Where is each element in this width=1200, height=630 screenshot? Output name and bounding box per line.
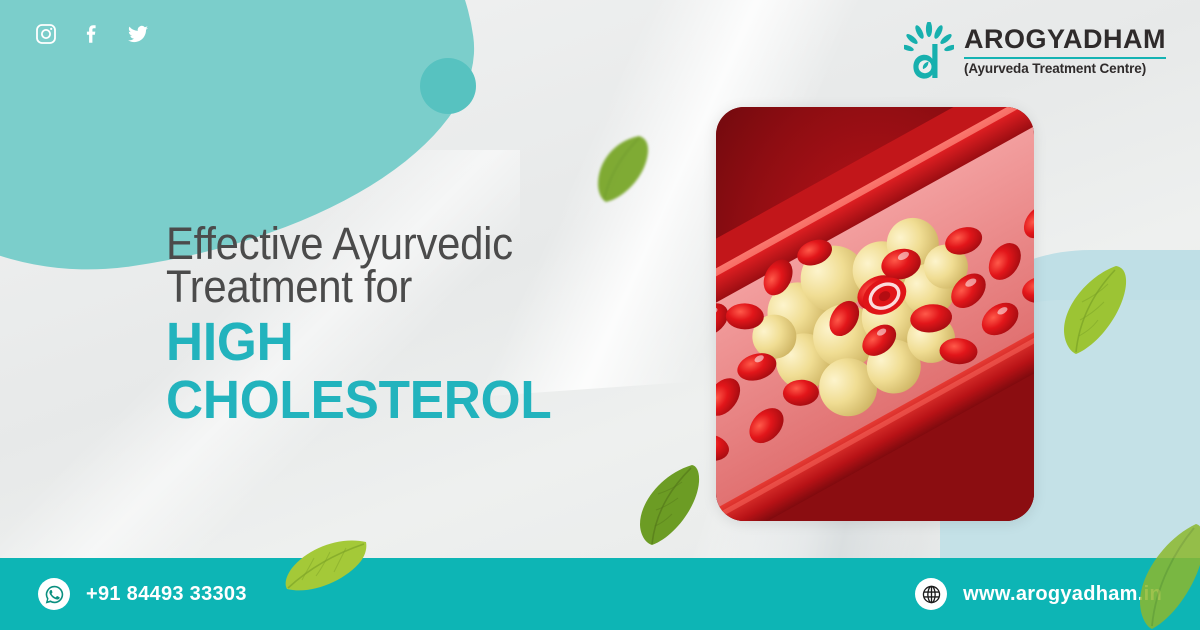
headline-emphasis: HIGH CHOLESTEROL [166,314,660,428]
logo-divider [964,57,1166,59]
whatsapp-icon [38,578,70,610]
globe-icon [915,578,947,610]
facebook-icon[interactable] [80,22,104,46]
logo-wordmark: AROGYADHAM [964,26,1166,53]
website-contact[interactable]: www.arogyadham.in [915,578,1162,610]
twitter-icon[interactable] [126,22,150,46]
website-url: www.arogyadham.in [963,583,1162,606]
brand-logo[interactable]: AROGYADHAM (Ayurveda Treatment Centre) [904,22,1166,80]
contact-bar: +91 84493 33303 www.arogyadham.in [0,558,1200,630]
leaf-tree-a-icon [904,22,954,80]
promo-banner: AROGYADHAM (Ayurveda Treatment Centre) E… [0,0,1200,630]
headline-line-1: Effective Ayurvedic [166,222,650,265]
phone-number: +91 84493 33303 [86,583,247,606]
leaf-icon [632,462,704,548]
social-links [34,22,150,46]
logo-tagline: (Ayurveda Treatment Centre) [964,62,1166,77]
phone-contact[interactable]: +91 84493 33303 [38,578,247,610]
teal-circle [420,58,476,114]
headline-line-2: Treatment for [166,265,650,308]
leaf-icon [592,132,654,206]
headline-block: Effective Ayurvedic Treatment for HIGH C… [166,222,686,429]
instagram-icon[interactable] [34,22,58,46]
blood-vessel-cholesterol-illustration [716,107,1034,521]
